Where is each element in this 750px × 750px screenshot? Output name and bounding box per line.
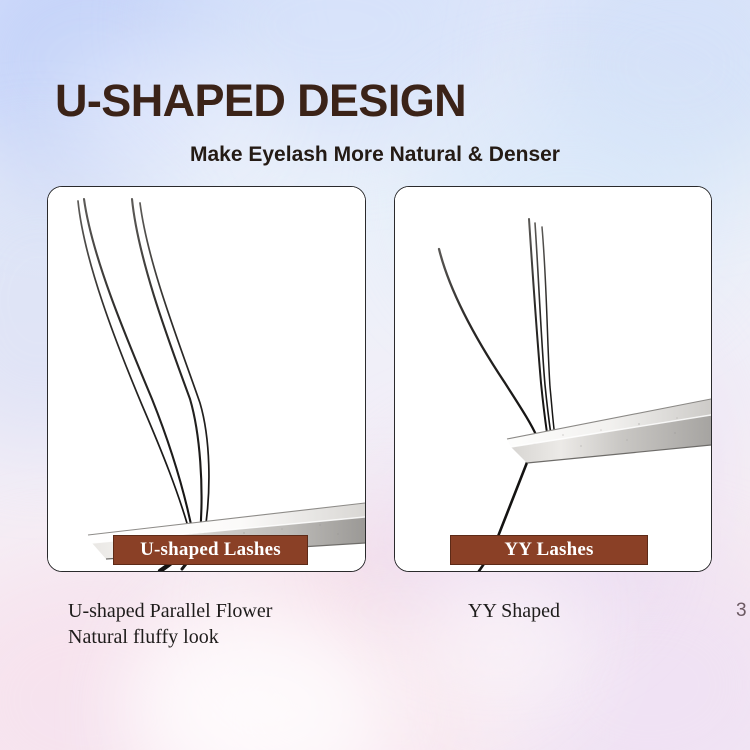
yy-lash-illustration (395, 187, 711, 571)
watermark-digit: 3 (736, 600, 750, 622)
page-title: U-SHAPED DESIGN (55, 75, 466, 127)
product-card-u-shaped[interactable]: U-shaped Lashes (47, 186, 366, 572)
badge-yy-lashes: YY Lashes (450, 535, 648, 565)
u-shaped-lash-photo (48, 187, 365, 571)
badge-u-shaped-lashes: U-shaped Lashes (113, 535, 308, 565)
u-shaped-lash-illustration (48, 187, 365, 571)
yy-lash-photo (395, 187, 711, 571)
background-blob-white-2 (400, 570, 600, 730)
product-feature-slide: U-SHAPED DESIGN Make Eyelash More Natura… (0, 0, 750, 750)
caption-u-shaped: U-shaped Parallel Flower Natural fluffy … (68, 598, 272, 650)
page-subtitle: Make Eyelash More Natural & Denser (0, 143, 750, 167)
product-card-yy[interactable]: YY Lashes (394, 186, 712, 572)
caption-yy: YY Shaped (468, 598, 560, 624)
